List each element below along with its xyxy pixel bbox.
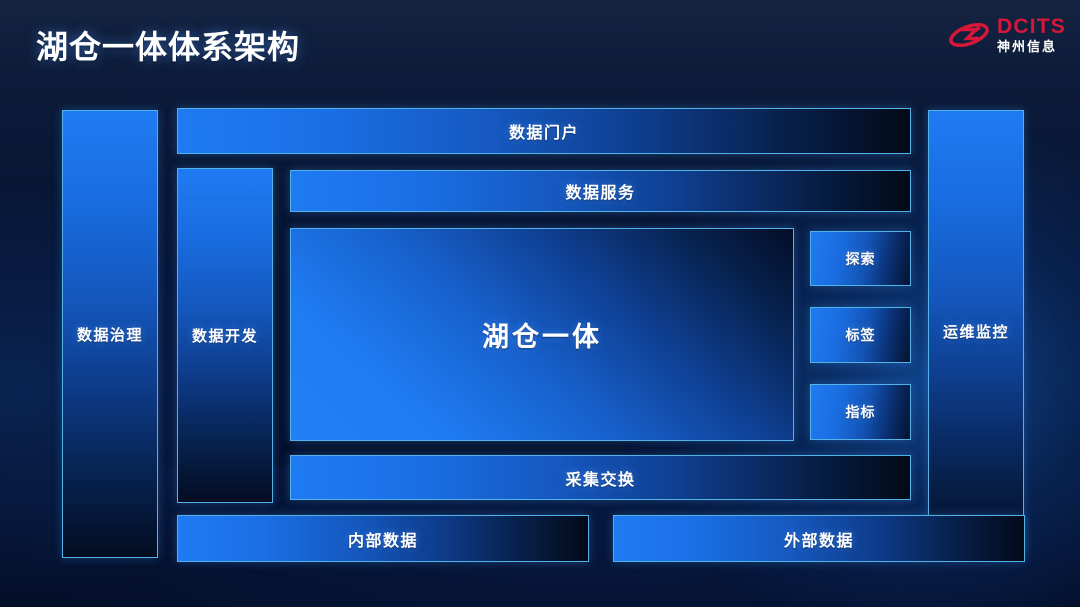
bar-data-portal[interactable]: 数据门户	[177, 108, 911, 154]
bar-data-service-label: 数据服务	[565, 179, 635, 203]
chip-tags-label: 标签	[846, 325, 876, 345]
pillar-data-governance[interactable]: 数据治理	[62, 110, 158, 558]
bar-external-data-label: 外部数据	[784, 527, 854, 551]
pillar-ops-monitoring[interactable]: 运维监控	[928, 110, 1024, 553]
chip-metrics[interactable]: 指标	[810, 384, 911, 440]
bar-data-portal-label: 数据门户	[509, 119, 579, 143]
pillar-data-governance-label: 数据治理	[77, 324, 143, 345]
pillar-ops-monitoring-label: 运维监控	[943, 321, 1009, 342]
bar-collect-exchange[interactable]: 采集交换	[290, 455, 911, 500]
pillar-data-development-label: 数据开发	[192, 325, 258, 346]
bar-collect-exchange-label: 采集交换	[565, 466, 635, 490]
brand-logo: DCITS 神州信息	[948, 16, 1066, 53]
dcits-swirl-logo-icon	[948, 18, 990, 52]
bar-external-data[interactable]: 外部数据	[613, 515, 1025, 562]
bar-internal-data-label: 内部数据	[348, 527, 418, 551]
block-lakehouse[interactable]: 湖仓一体	[290, 228, 794, 441]
block-lakehouse-label: 湖仓一体	[482, 315, 602, 354]
logo-wordmark: DCITS 神州信息	[997, 16, 1066, 53]
bar-data-service[interactable]: 数据服务	[290, 170, 911, 212]
chip-metrics-label: 指标	[846, 402, 876, 422]
page-title: 湖仓一体体系架构	[36, 22, 300, 68]
slide-canvas: 湖仓一体体系架构 DCITS 神州信息 数据治理 数据门户 数据开发 数据服务 …	[0, 0, 1080, 607]
pillar-data-development[interactable]: 数据开发	[177, 168, 273, 503]
bar-internal-data[interactable]: 内部数据	[177, 515, 589, 562]
logo-chinese-text: 神州信息	[997, 40, 1066, 53]
chip-tags[interactable]: 标签	[810, 307, 911, 363]
chip-explore[interactable]: 探索	[810, 231, 911, 286]
chip-explore-label: 探索	[846, 249, 876, 269]
logo-english-text: DCITS	[997, 16, 1066, 37]
